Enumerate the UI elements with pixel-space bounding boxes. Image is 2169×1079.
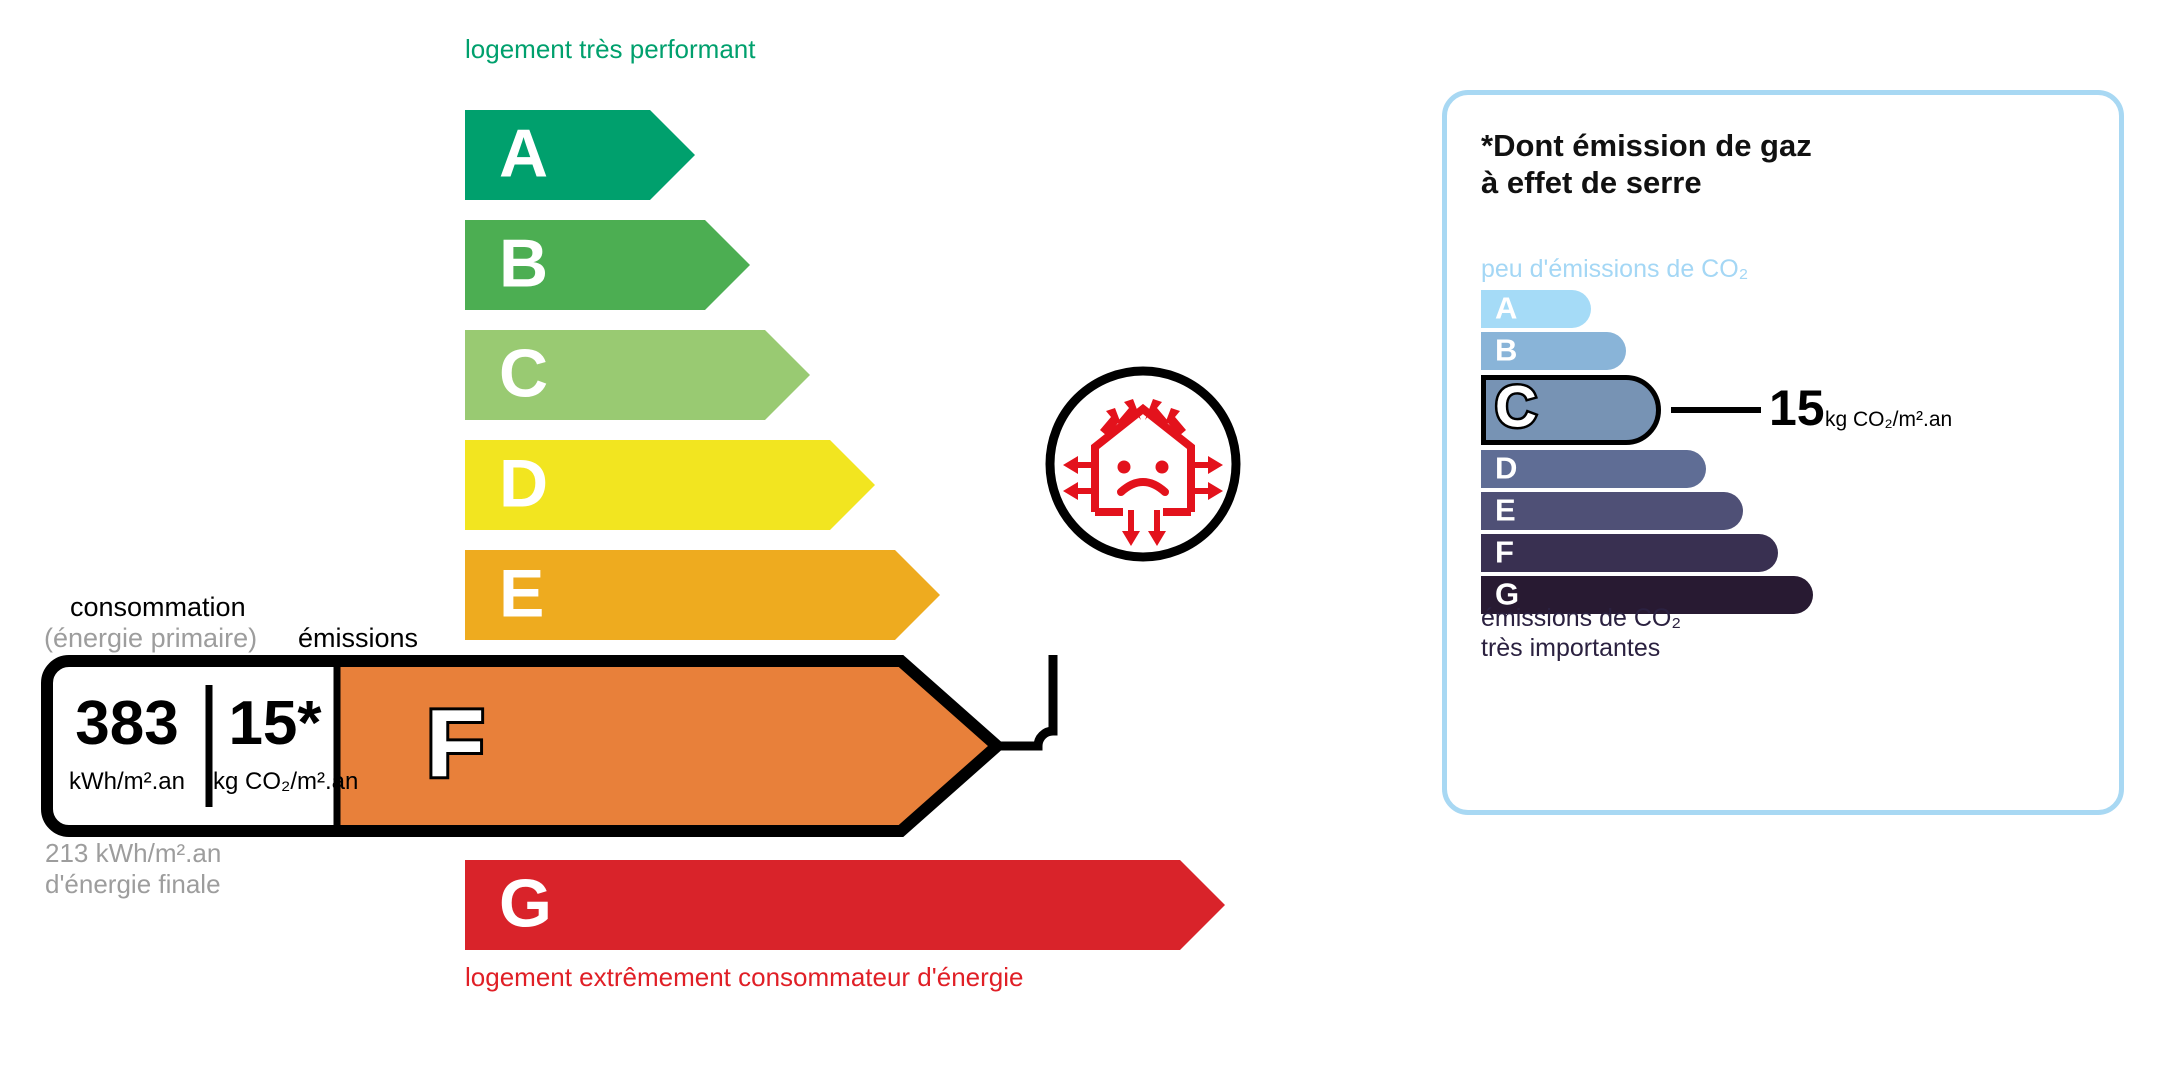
co2-bar-letter: F — [1495, 536, 1514, 567]
co2-bar-letter: C — [1495, 379, 1537, 437]
energy-ladder: logement très performant A B C — [0, 0, 1300, 1079]
value-cell-primary: 383 kWh/m².an — [51, 655, 203, 837]
value-primary-unit: kWh/m².an — [51, 770, 203, 794]
co2-bar-c-selected[interactable]: C 15 kg CO₂/m².an — [1481, 375, 2101, 445]
co2-bar-d[interactable]: D — [1481, 450, 2101, 488]
co2-bar-b[interactable]: B — [1481, 332, 2101, 370]
energy-band-letter: E — [499, 560, 544, 628]
co2-bar-fill — [1481, 534, 1778, 572]
co2-panel: *Dont émission de gaz à effet de serre p… — [1442, 90, 2124, 815]
energy-band-letter: A — [499, 120, 548, 188]
house-badge — [1043, 364, 1243, 564]
energy-caption-top: logement très performant — [465, 34, 755, 65]
energy-band-c[interactable]: C — [465, 330, 810, 420]
co2-bar-fill — [1481, 492, 1743, 530]
co2-bar-letter: B — [1495, 334, 1517, 365]
co2-leader-value: 15 — [1769, 383, 1825, 433]
selected-values: 383 kWh/m².an 15* kg CO₂/m².an — [41, 655, 461, 837]
final-energy-note: 213 kWh/m².an d'énergie finale — [45, 838, 221, 899]
energy-band-letter: B — [499, 230, 548, 298]
energy-band-letter: G — [499, 870, 552, 938]
energy-band-a[interactable]: A — [465, 110, 695, 200]
co2-leader-unit: kg CO₂/m².an — [1825, 409, 1952, 430]
energy-band-letter: D — [499, 450, 548, 518]
energy-band-f-selected[interactable]: 383 kWh/m².an 15* kg CO₂/m².an F — [41, 655, 1059, 837]
co2-caption-bottom: émissions de CO₂ très importantes — [1481, 603, 1681, 663]
selected-band-letter: F — [426, 696, 485, 792]
energy-caption-bottom: logement extrêmement consommateur d'éner… — [465, 962, 1023, 993]
energy-band-b[interactable]: B — [465, 220, 750, 310]
energy-band-letter: C — [499, 340, 548, 408]
co2-panel-title: *Dont émission de gaz à effet de serre — [1481, 127, 1812, 201]
co2-bar-letter: A — [1495, 292, 1517, 323]
energy-band-e[interactable]: E — [465, 550, 940, 640]
co2-bar-f[interactable]: F — [1481, 534, 2101, 572]
value-primary: 383 — [51, 693, 203, 755]
co2-bar-a[interactable]: A — [1481, 290, 2101, 328]
co2-bar-letter: D — [1495, 452, 1517, 483]
value-emissions-unit: kg CO₂/m².an — [213, 770, 337, 794]
co2-caption-top: peu d'émissions de CO₂ — [1481, 255, 1748, 284]
co2-bar-e[interactable]: E — [1481, 492, 2101, 530]
header-emissions: émissions — [298, 623, 418, 654]
header-consumption: consommation — [70, 592, 246, 623]
co2-bars: A B C 15 kg CO₂/m².an D E — [1481, 290, 2101, 618]
value-cell-emissions: 15* kg CO₂/m².an — [213, 655, 337, 837]
dpe-label: logement très performant A B C — [0, 0, 2169, 1079]
value-emissions: 15* — [213, 693, 337, 755]
energy-band-d[interactable]: D — [465, 440, 875, 530]
header-consumption-sub: (énergie primaire) — [44, 623, 257, 654]
energy-band-g[interactable]: G — [465, 860, 1225, 950]
co2-bar-letter: E — [1495, 494, 1516, 525]
house-heat-loss-sad-icon — [1043, 364, 1243, 564]
band-shape-g — [465, 860, 1225, 950]
co2-leader-line — [1671, 407, 1761, 413]
